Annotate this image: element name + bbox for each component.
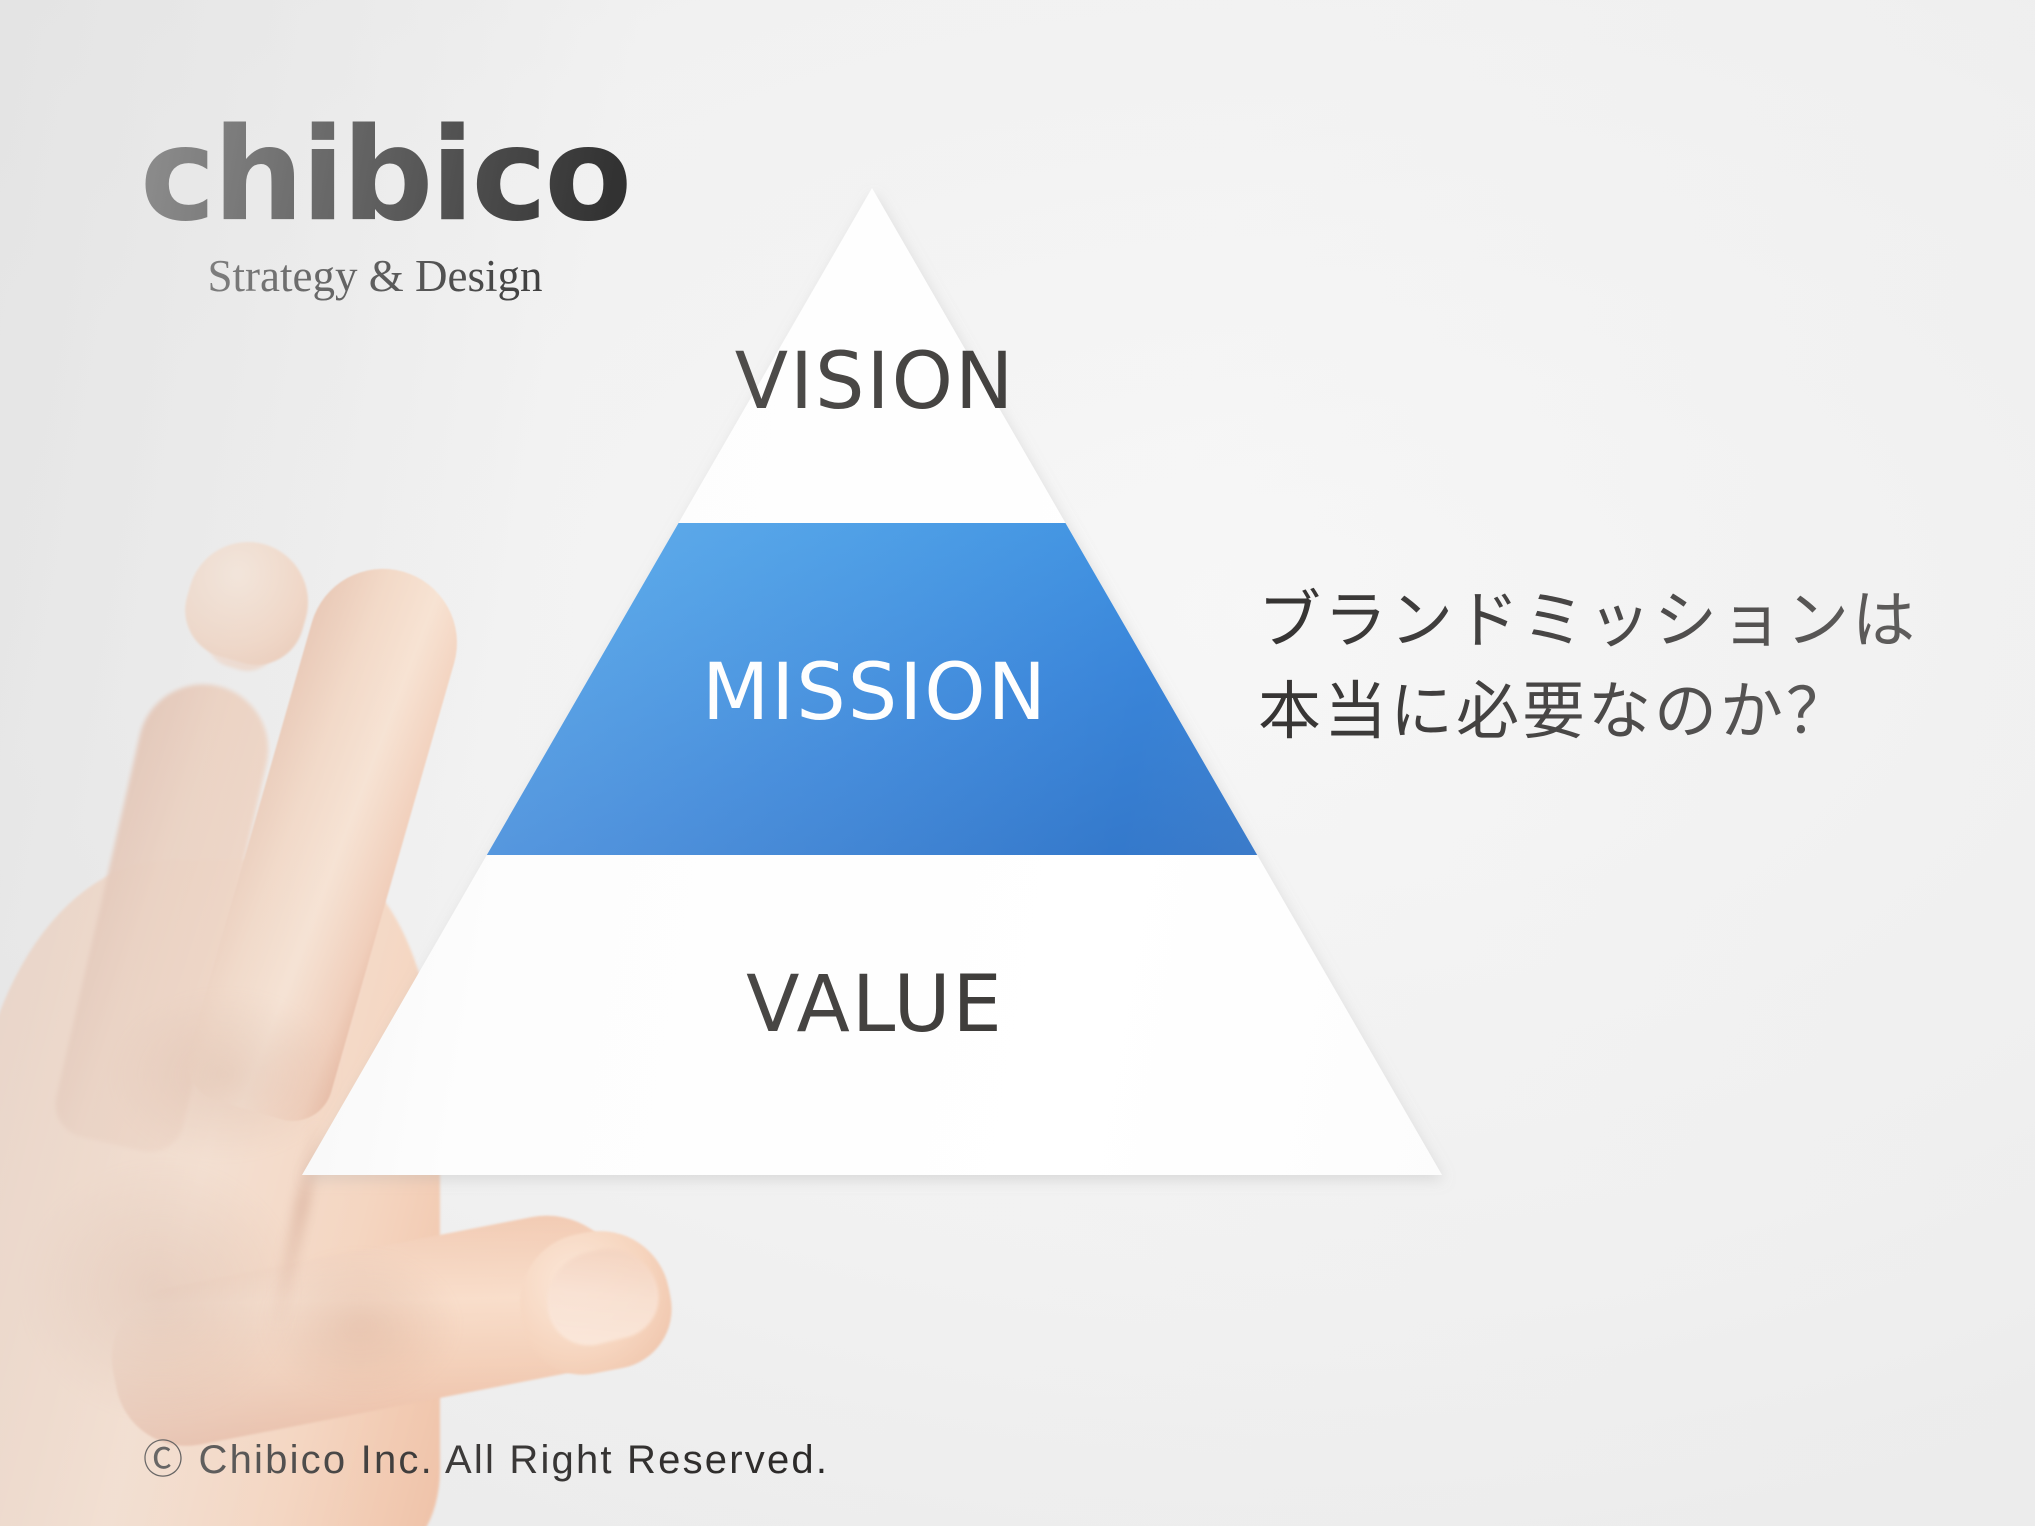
logo-wordmark: chibico <box>140 112 610 240</box>
hand-shading-3 <box>260 1250 460 1400</box>
brand-logo: chibico Strategy & Design <box>140 112 610 302</box>
pyramid-label-value: VALUE <box>640 960 1110 1050</box>
hand-shading-2 <box>20 1160 300 1420</box>
hand-thumb <box>100 1202 641 1458</box>
hand-index-tip <box>174 528 322 676</box>
hand-thumb-nail <box>537 1238 668 1354</box>
hand-index-nail <box>199 558 297 678</box>
hand-index-finger <box>178 551 475 1130</box>
hand-shading-1 <box>110 990 340 1160</box>
pyramid-label-vision: VISION <box>640 337 1110 427</box>
copyright-notice: Ⓒ Chibico Inc. All Right Reserved. <box>143 1427 829 1485</box>
headline-line-1: ブランドミッションは <box>1258 576 1918 667</box>
pyramid-label-mission: MISSION <box>610 648 1140 738</box>
hand-middle-finger <box>49 671 281 1158</box>
hand-wrist <box>0 1320 230 1526</box>
headline-line-2: 本当に必要なのか？ <box>1258 667 1918 758</box>
headline-block: ブランドミッションは 本当に必要なのか？ <box>1258 576 1918 757</box>
logo-tagline: Strategy & Design <box>140 250 610 302</box>
hand-thumb-tip <box>508 1219 682 1385</box>
slide-canvas: VISION MISSION VALUE chibico Strategy & … <box>0 0 2035 1526</box>
hand-crease <box>268 1121 327 1330</box>
